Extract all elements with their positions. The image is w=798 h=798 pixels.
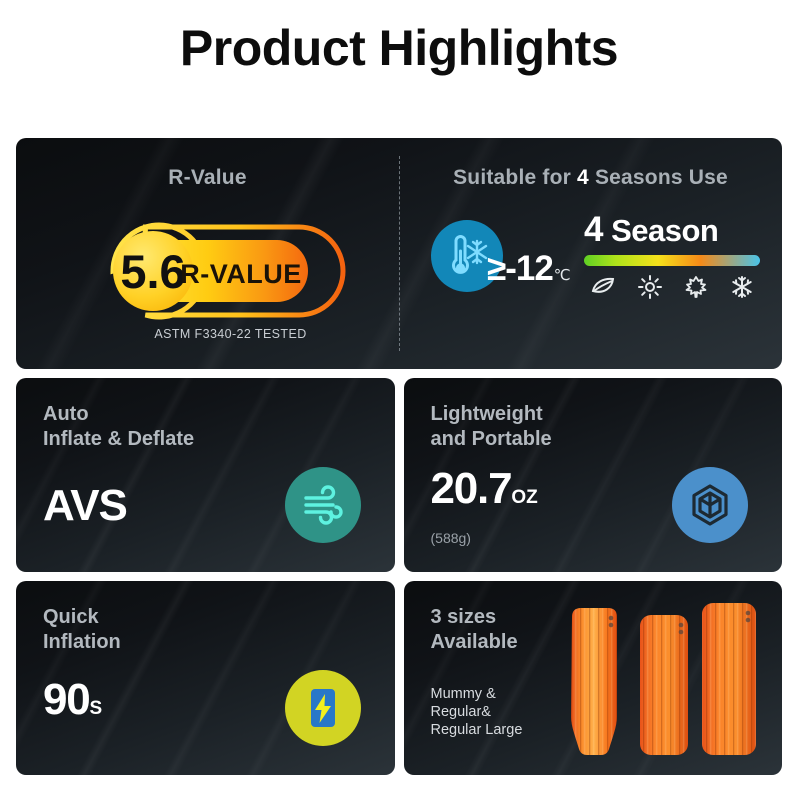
pane-divider xyxy=(399,156,400,351)
auto-inflate-heading: Auto Inflate & Deflate xyxy=(43,402,194,452)
seasons-heading-prefix: Suitable for xyxy=(453,166,577,189)
card-quick-inflation: Quick Inflation 90S xyxy=(16,581,395,775)
wind-icon-circle xyxy=(285,467,361,543)
summer-sun-icon xyxy=(638,275,662,299)
winter-snowflake-icon xyxy=(730,275,754,299)
lightweight-number: 20.7 xyxy=(431,464,512,513)
lightning-bolt-icon xyxy=(300,685,346,731)
cube-icon-circle xyxy=(672,467,748,543)
lightweight-heading-line2: and Portable xyxy=(431,428,552,450)
card-lightweight: Lightweight and Portable 20.7OZ (588g) xyxy=(404,378,783,572)
rvalue-footnote: ASTM F3340-22 TESTED xyxy=(58,327,358,341)
lightweight-unit: OZ xyxy=(511,487,537,508)
sleeping-pads-group xyxy=(562,591,762,767)
season-icon-row xyxy=(584,275,760,299)
seasons-heading-suffix: Seasons Use xyxy=(589,166,728,189)
temperature-group: ≥-12℃ xyxy=(431,220,570,292)
sizes-heading-line2: Available xyxy=(431,631,518,653)
auto-inflate-value: AVS xyxy=(43,484,127,528)
season-gradient-bar xyxy=(584,255,760,266)
thermometer-badge-icon: 5.6 R-VALUE xyxy=(58,216,358,326)
temperature-unit: ℃ xyxy=(554,267,570,284)
card-row-middle: Auto Inflate & Deflate AVS xyxy=(16,378,782,572)
seasons-heading: Suitable for 4 Seasons Use xyxy=(399,138,782,190)
quick-inflation-number: 90 xyxy=(43,675,90,724)
auto-inflate-heading-line1: Auto xyxy=(43,403,89,425)
pad-regular-large xyxy=(702,603,756,755)
seasons-heading-number: 4 xyxy=(577,166,589,189)
season-word: Season xyxy=(611,213,718,248)
season-number: 4 xyxy=(584,210,603,249)
quick-inflation-heading-line2: Inflation xyxy=(43,631,121,653)
season-rating-group: 4 Season xyxy=(584,212,760,299)
autumn-maple-leaf-icon xyxy=(684,275,708,299)
spring-leaf-icon xyxy=(590,275,616,297)
bolt-icon-circle xyxy=(285,670,361,746)
sizes-subtext: Mummy & Regular& Regular Large xyxy=(431,685,523,739)
rvalue-label: R-VALUE xyxy=(180,259,302,289)
card-rvalue-seasons: R-Value xyxy=(16,138,782,369)
pane-seasons: Suitable for 4 Seasons Use xyxy=(399,138,782,369)
card-sizes: 3 sizes Available Mummy & Regular& Regul… xyxy=(404,581,783,775)
lightweight-value: 20.7OZ xyxy=(431,467,538,520)
rvalue-badge: 5.6 R-VALUE ASTM F3340-22 TESTED xyxy=(58,216,358,341)
quick-inflation-value: 90S xyxy=(43,678,102,731)
rvalue-heading: R-Value xyxy=(16,138,399,190)
product-highlights-page: Product Highlights R-Value xyxy=(0,0,798,798)
sizes-heading: 3 sizes Available xyxy=(431,605,518,655)
thermometer-snowflake-icon xyxy=(442,231,492,281)
card-auto-inflate: Auto Inflate & Deflate AVS xyxy=(16,378,395,572)
cube-box-icon xyxy=(687,482,733,528)
sizes-heading-line1: 3 sizes xyxy=(431,606,497,628)
quick-inflation-icon-wrap xyxy=(285,670,361,746)
lightweight-heading-line1: Lightweight xyxy=(431,403,543,425)
pane-rvalue: R-Value xyxy=(16,138,399,369)
quick-inflation-heading: Quick Inflation xyxy=(43,605,121,655)
quick-inflation-heading-line1: Quick xyxy=(43,606,99,628)
highlight-card-grid: R-Value xyxy=(16,138,782,784)
sizes-sub-line1: Mummy & xyxy=(431,686,496,702)
quick-inflation-unit: S xyxy=(90,698,103,719)
temperature-number: ≥-12 xyxy=(487,249,553,288)
lightweight-note: (588g) xyxy=(431,530,471,546)
rvalue-number: 5.6 xyxy=(120,245,185,298)
card-row-bottom: Quick Inflation 90S 3 s xyxy=(16,581,782,775)
page-title: Product Highlights xyxy=(0,16,798,80)
pad-mummy xyxy=(571,608,617,755)
auto-inflate-heading-line2: Inflate & Deflate xyxy=(43,428,194,450)
lightweight-icon-wrap xyxy=(672,467,748,543)
sizes-sub-line3: Regular Large xyxy=(431,722,523,738)
auto-inflate-icon-wrap xyxy=(285,467,361,543)
pad-regular xyxy=(640,615,688,755)
lightweight-heading: Lightweight and Portable xyxy=(431,402,552,452)
sizes-sub-line2: Regular& xyxy=(431,704,491,720)
temperature-value: ≥-12℃ xyxy=(487,249,570,289)
season-title: 4 Season xyxy=(584,212,760,249)
wind-icon xyxy=(300,482,346,528)
sleeping-pads-icon xyxy=(562,591,762,767)
